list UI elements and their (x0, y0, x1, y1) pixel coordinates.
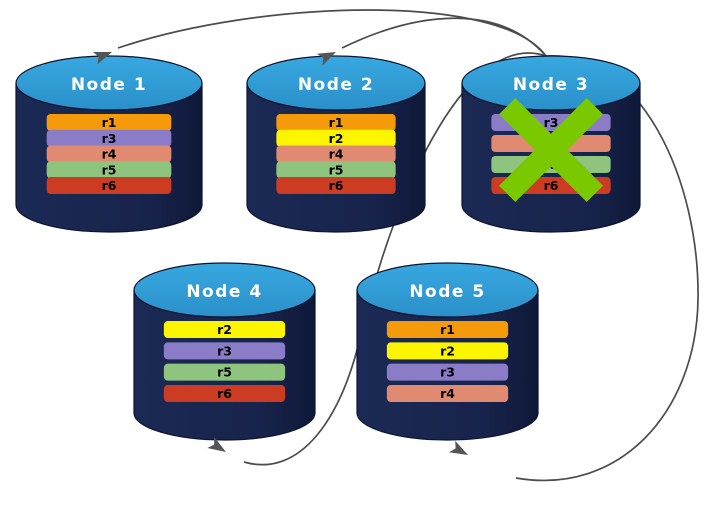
record-label: r6 (544, 178, 559, 193)
node-title: Node 1 (71, 75, 147, 95)
record-label: r2 (329, 131, 344, 146)
record-label: r5 (102, 162, 117, 177)
record-label: r4 (440, 386, 455, 401)
record-label: r6 (102, 178, 117, 193)
record-label: r3 (102, 131, 117, 146)
record-label: r5 (329, 162, 344, 177)
record-label: r3 (217, 343, 232, 358)
node-title: Node 2 (298, 75, 374, 95)
node-title: Node 4 (186, 282, 262, 302)
arrowhead-node-5 (449, 441, 471, 461)
record-label: r6 (217, 386, 232, 401)
record-label: r1 (329, 115, 344, 130)
record-label: r1 (102, 115, 117, 130)
db-node-1[interactable]: Node 1r1r3r4r5r6 (16, 56, 202, 232)
edge-node-3-to-node-1 (118, 10, 546, 56)
record-label: r5 (217, 365, 232, 380)
nodes-layer: Node 1r1r3r4r5r6Node 2r1r2r4r5r6Node 3r3… (16, 56, 640, 440)
record-label: r4 (102, 147, 117, 162)
record-label: r3 (440, 365, 455, 380)
db-node-5[interactable]: Node 5r1r2r3r4 (357, 263, 538, 440)
db-node-3[interactable]: Node 3r3r4r5r6 (462, 56, 640, 232)
node-replication-diagram: Node 1r1r3r4r5r6Node 2r1r2r4r5r6Node 3r3… (0, 0, 708, 508)
node-title: Node 3 (513, 75, 589, 95)
record-label: r2 (217, 322, 232, 337)
record-label: r1 (440, 322, 455, 337)
record-label: r3 (544, 115, 559, 130)
record-label: r6 (329, 178, 344, 193)
node-title: Node 5 (409, 282, 485, 302)
record-label: r4 (329, 147, 344, 162)
db-node-4[interactable]: Node 4r2r3r5r6 (134, 263, 315, 440)
record-label: r2 (440, 343, 455, 358)
diagram-canvas: Node 1r1r3r4r5r6Node 2r1r2r4r5r6Node 3r3… (0, 0, 708, 508)
db-node-2[interactable]: Node 2r1r2r4r5r6 (247, 56, 425, 232)
edge-node-3-to-node-2 (342, 18, 546, 56)
